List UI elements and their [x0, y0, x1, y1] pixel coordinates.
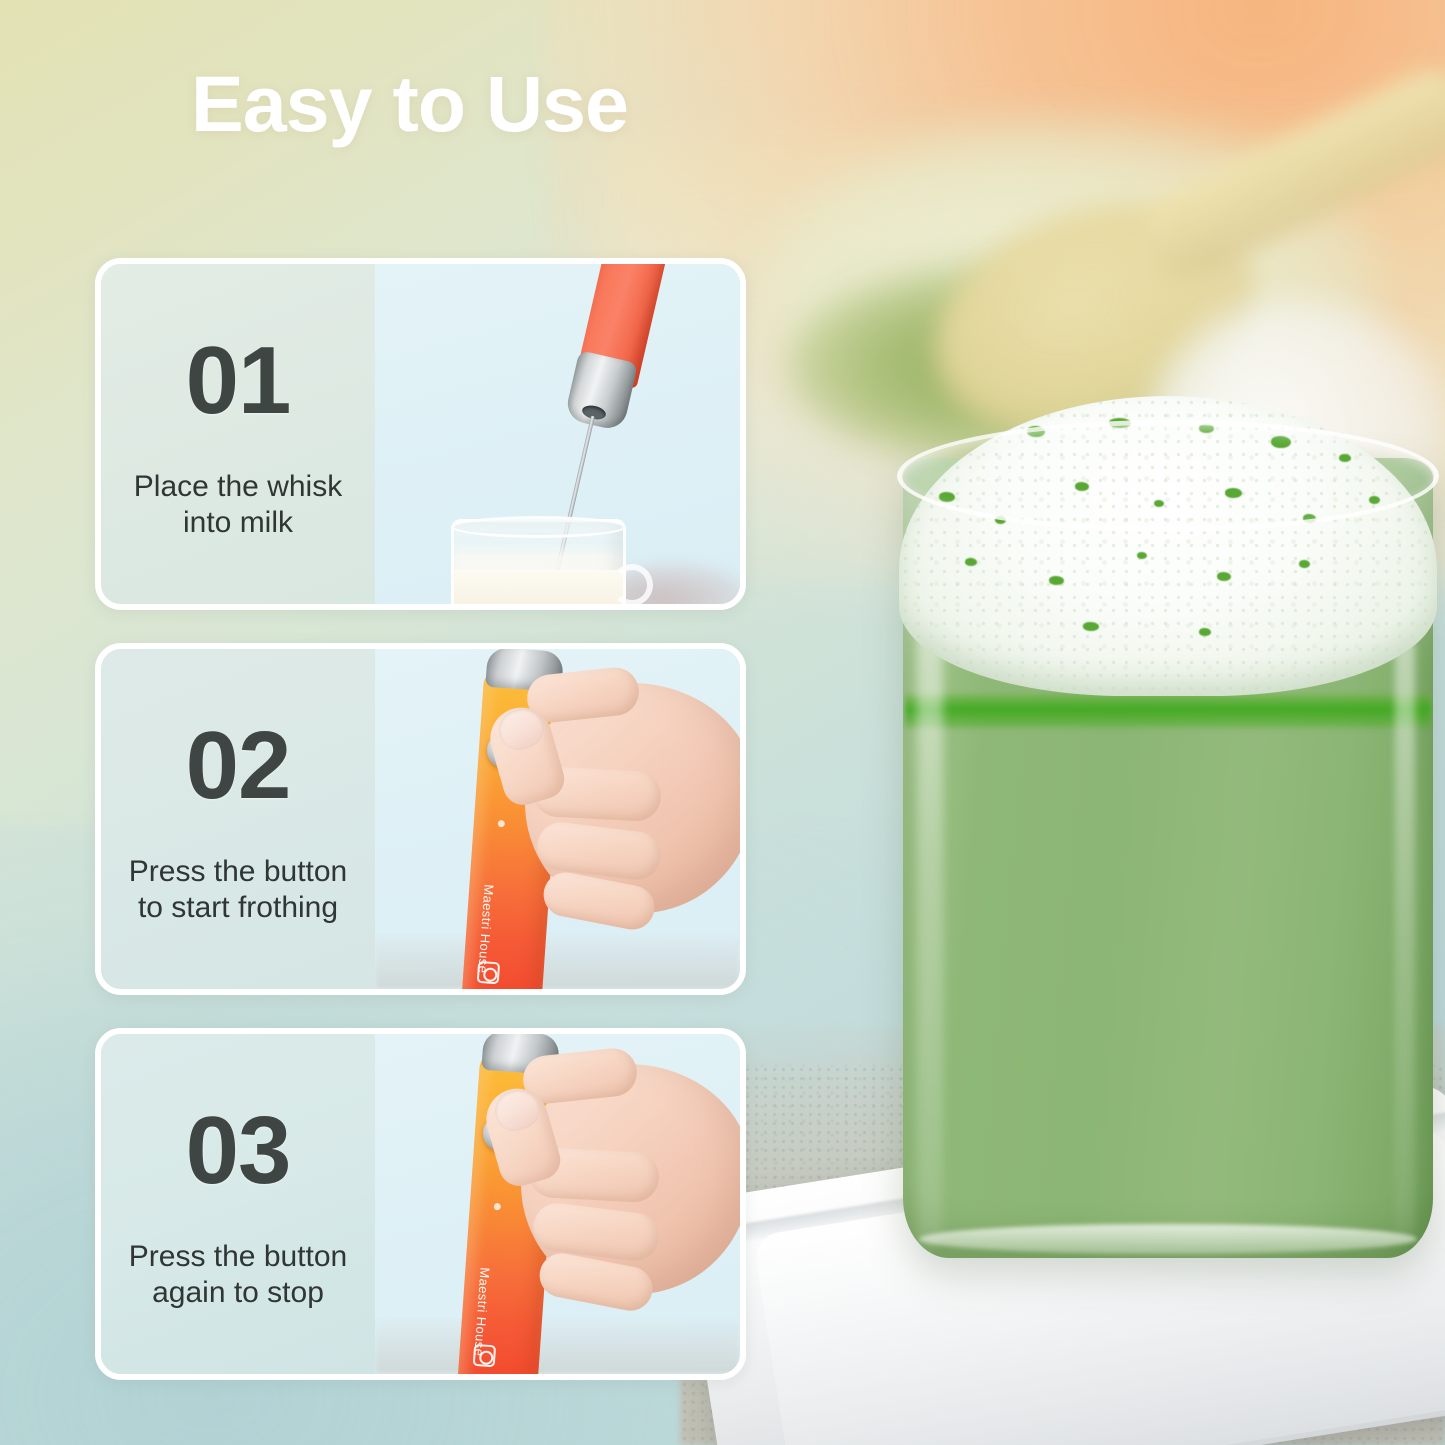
- indicator-light-icon: [498, 820, 505, 827]
- step-03-caption-line-2: again to stop: [129, 1275, 347, 1311]
- frother-chrome-collar: [564, 350, 638, 432]
- milk-liquid: [454, 570, 623, 604]
- step-02-caption-line-1: Press the button: [129, 854, 347, 890]
- page-title: Easy to Use: [191, 63, 628, 146]
- step-03-info: 03 Press the button again to stop: [101, 1034, 375, 1374]
- step-03-caption: Press the button again to stop: [121, 1239, 355, 1311]
- blurred-table-edge: [375, 937, 740, 989]
- step-03-caption-line-1: Press the button: [129, 1239, 347, 1275]
- indicator-light-icon: [494, 1203, 501, 1210]
- matcha-fleck: [1137, 552, 1147, 559]
- matcha-fleck: [1049, 576, 1064, 585]
- step-01-caption-line-2: into milk: [134, 505, 342, 541]
- step-01-info: 01 Place the whisk into milk: [101, 264, 375, 604]
- matcha-fleck: [1083, 622, 1099, 631]
- matcha-green-band: [905, 694, 1431, 728]
- matcha-fleck: [1217, 572, 1231, 581]
- step-card-01: 01 Place the whisk into milk: [95, 258, 746, 610]
- step-02-info: 02 Press the button to start frothing: [101, 649, 375, 989]
- step-01-photo: [375, 264, 740, 604]
- step-02-photo: Maestri House: [375, 649, 740, 989]
- matcha-fleck: [1299, 560, 1310, 568]
- milk-glass-rim: [451, 516, 626, 538]
- matcha-fleck: [965, 558, 977, 566]
- step-02-caption-line-2: to start frothing: [129, 890, 347, 926]
- step-01-caption: Place the whisk into milk: [126, 469, 350, 541]
- step-01-caption-line-1: Place the whisk: [134, 469, 342, 505]
- step-02-caption: Press the button to start frothing: [121, 854, 355, 926]
- matcha-latte-glass: [903, 398, 1433, 1258]
- blurred-table-edge: [375, 1322, 740, 1374]
- glass-highlight-right: [1395, 638, 1415, 1238]
- glass-highlight-left: [917, 608, 943, 1248]
- brand-mark-icon: [473, 1344, 496, 1367]
- step-01-number: 01: [186, 333, 291, 429]
- brand-label: Maestri House: [475, 884, 496, 974]
- matcha-fleck: [1199, 628, 1211, 636]
- glass-bottom-rim: [919, 1224, 1417, 1254]
- step-03-number: 03: [186, 1103, 291, 1199]
- milk-glass-handle: [611, 564, 653, 604]
- brand-label: Maestri House: [471, 1267, 492, 1357]
- brand-mark-icon: [477, 961, 500, 984]
- step-card-02: 02 Press the button to start frothing Ma…: [95, 643, 746, 995]
- step-03-photo: Maestri House: [375, 1034, 740, 1374]
- glass-rim: [897, 420, 1439, 532]
- step-02-number: 02: [186, 718, 291, 814]
- step-card-03: 03 Press the button again to stop Maestr…: [95, 1028, 746, 1380]
